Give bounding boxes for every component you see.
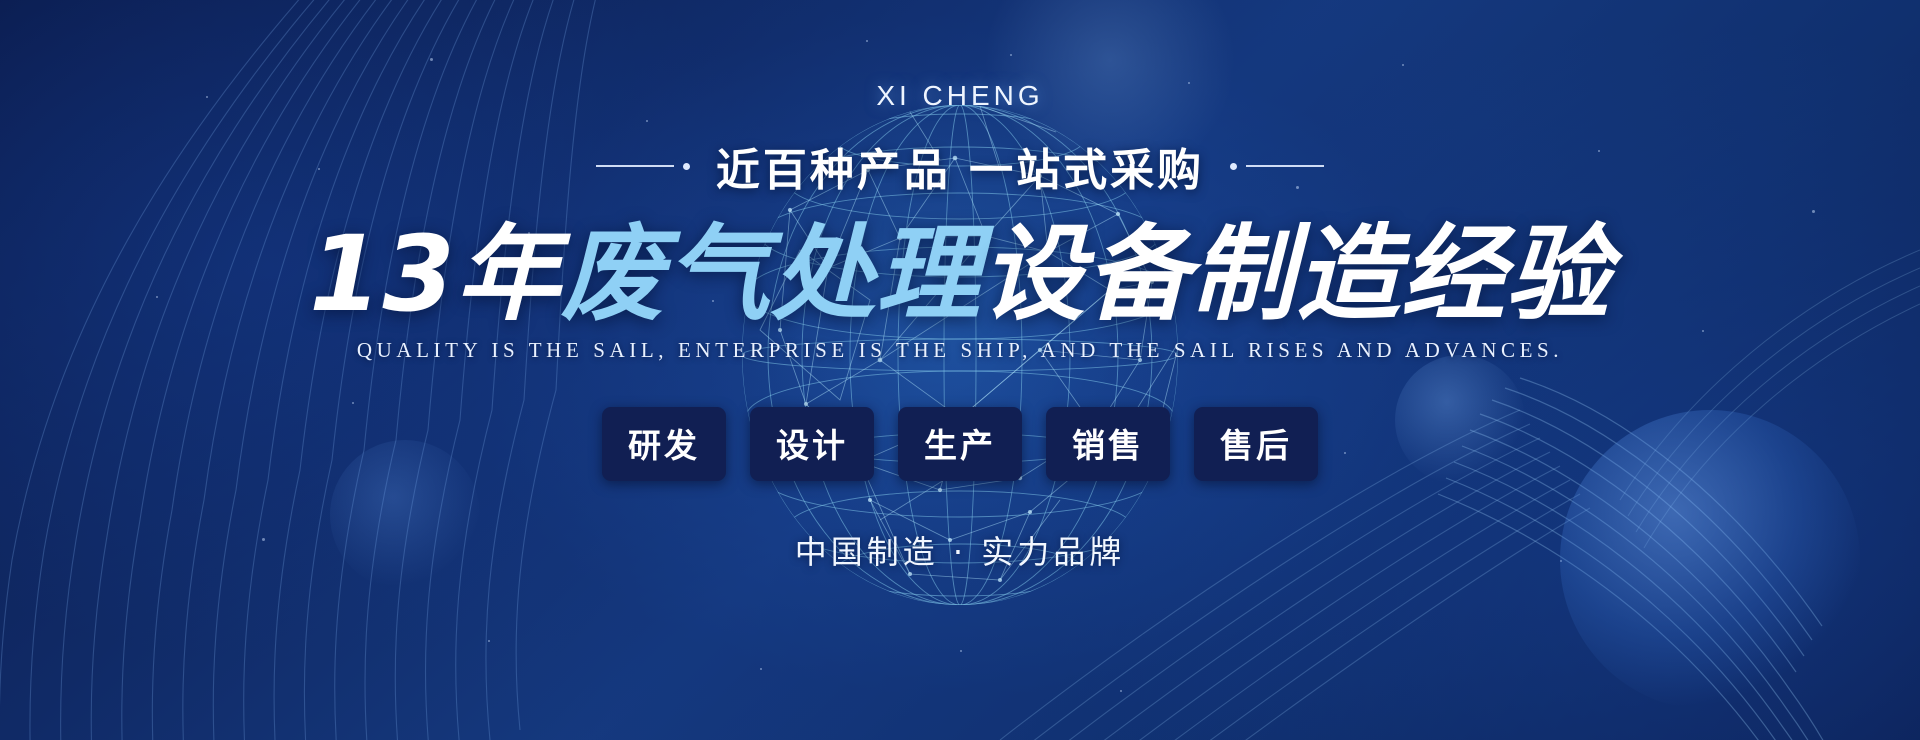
deco-dot-right <box>1230 163 1237 170</box>
service-tag-produce[interactable]: 生产 <box>898 407 1022 481</box>
service-tag-aftersale[interactable]: 售后 <box>1194 407 1318 481</box>
banner-content: XI CHENG 近百种产品 一站式采购 13年废气处理设备制造经验 QUALI… <box>0 0 1920 740</box>
hero-banner: XI CHENG 近百种产品 一站式采购 13年废气处理设备制造经验 QUALI… <box>0 0 1920 740</box>
headline-trailing: 设备制造经验 <box>981 213 1611 335</box>
deco-bar-right <box>1246 165 1324 167</box>
banner-tagline-english: QUALITY IS THE SAIL, ENTERPRISE IS THE S… <box>357 338 1563 363</box>
deco-bar-left <box>596 165 674 167</box>
banner-headline: 13年废气处理设备制造经验 <box>309 216 1611 332</box>
headline-accent: 废气处理 <box>561 213 981 335</box>
service-tag-design[interactable]: 设计 <box>750 407 874 481</box>
banner-subtitle: 近百种产品 一站式采购 <box>716 134 1204 198</box>
decorative-line-left <box>596 163 690 170</box>
headline-years: 13年 <box>309 213 561 335</box>
service-tag-rd[interactable]: 研发 <box>602 407 726 481</box>
deco-dot-left <box>683 163 690 170</box>
service-tag-list: 研发 设计 生产 销售 售后 <box>602 407 1318 481</box>
decorative-line-right <box>1230 163 1324 170</box>
brand-name-english: XI CHENG <box>876 80 1043 112</box>
banner-footer-slogan: 中国制造 · 实力品牌 <box>795 527 1126 573</box>
subtitle-row: 近百种产品 一站式采购 <box>596 134 1324 198</box>
service-tag-sales[interactable]: 销售 <box>1046 407 1170 481</box>
